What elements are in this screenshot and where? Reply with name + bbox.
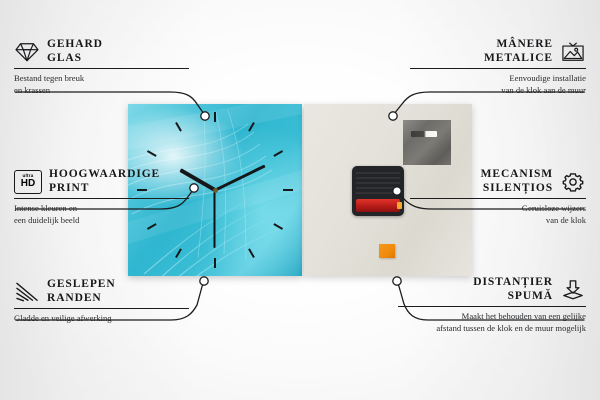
callout-desc: Eenvoudige installatie van de klok aan d… bbox=[410, 73, 586, 96]
infographic-canvas: GEHARD GLAS Bestand tegen breuk en krass… bbox=[0, 0, 600, 400]
callout-rule bbox=[14, 308, 189, 309]
foam-spacer bbox=[379, 244, 395, 258]
clock-minute-hand bbox=[214, 165, 265, 192]
diamond-icon bbox=[14, 41, 40, 63]
hour-tick bbox=[214, 112, 216, 122]
callout-title: MECANISM SILENȚIOS bbox=[481, 168, 553, 195]
clock-mechanism-box bbox=[352, 166, 404, 216]
callout-distantier-spuma: DISTANȚIER SPUMĂ Maakt het behouden van … bbox=[398, 276, 586, 334]
callout-gehard-glas: GEHARD GLAS Bestand tegen breuk en krass… bbox=[14, 38, 189, 96]
callout-rule bbox=[398, 306, 586, 307]
callout-title: GEHARD GLAS bbox=[47, 38, 103, 65]
callout-title: HOOGWAARDIGE PRINT bbox=[49, 168, 160, 195]
picture-frame-icon bbox=[560, 41, 586, 63]
clock-second-hand bbox=[214, 190, 216, 248]
callout-manere-metalice: MÂNERE METALICE Eenvoudige installatie v… bbox=[410, 38, 586, 96]
metal-hanger-plate bbox=[403, 120, 451, 165]
callout-mecanism-silentios: MECANISM SILENȚIOS Geruisloze wijzers va… bbox=[410, 168, 586, 226]
callout-title: MÂNERE METALICE bbox=[484, 38, 553, 65]
gear-icon bbox=[560, 171, 586, 193]
callout-desc: Geruisloze wijzers van de klok bbox=[410, 203, 586, 226]
callout-hoogwaardige-print: ultra HD HOOGWAARDIGE PRINT Intense kleu… bbox=[14, 168, 189, 226]
hour-tick bbox=[214, 258, 216, 268]
callout-title: GESLEPEN RANDEN bbox=[47, 278, 116, 305]
clock-center-pin bbox=[213, 188, 218, 193]
hour-tick bbox=[283, 189, 293, 191]
callout-desc: Maakt het behouden van een gelijke afsta… bbox=[398, 311, 586, 334]
callout-rule bbox=[410, 68, 586, 69]
callout-rule bbox=[410, 198, 586, 199]
hour-tick bbox=[175, 248, 182, 258]
hour-tick bbox=[273, 223, 283, 230]
callout-desc: Intense kleuren en een duidelijk beeld bbox=[14, 203, 189, 226]
beveled-edges-icon bbox=[14, 281, 40, 303]
callout-rule bbox=[14, 68, 189, 69]
hour-tick bbox=[175, 122, 182, 132]
mechanism-ridges bbox=[356, 172, 400, 194]
callout-title: DISTANȚIER SPUMĂ bbox=[473, 276, 553, 303]
callout-desc: Bestand tegen breuk en krassen bbox=[14, 73, 189, 96]
ultra-hd-icon-main: HD bbox=[21, 179, 35, 189]
hour-tick bbox=[248, 122, 255, 132]
battery bbox=[356, 199, 400, 212]
ultra-hd-icon: ultra HD bbox=[14, 170, 42, 194]
callout-desc: Gladde en veilige afwerking bbox=[14, 313, 189, 325]
hour-tick bbox=[147, 150, 157, 157]
callout-geslepen-randen: GESLEPEN RANDEN Gladde en veilige afwerk… bbox=[14, 278, 189, 325]
callout-rule bbox=[14, 198, 189, 199]
hour-tick bbox=[273, 150, 283, 157]
leader-endpoint bbox=[200, 277, 208, 285]
down-arrow-pad-icon bbox=[560, 279, 586, 301]
hour-tick bbox=[248, 248, 255, 258]
